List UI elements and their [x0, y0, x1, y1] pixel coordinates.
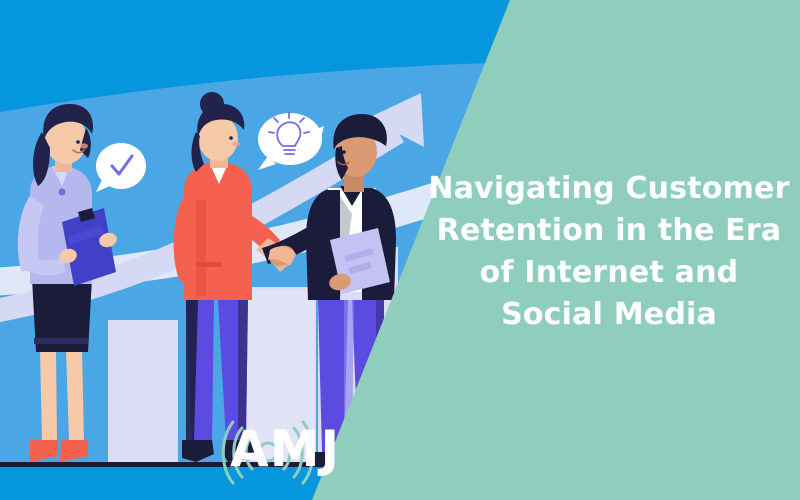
illustration-canvas [0, 0, 800, 500]
logo-wordmark: AMJ [230, 424, 340, 474]
chart-bar-1 [108, 320, 178, 466]
marketing-banner: Navigating Customer Retention in the Era… [0, 0, 800, 500]
amj-logo[interactable]: AMJ [228, 418, 340, 480]
hair-bun [200, 92, 224, 116]
